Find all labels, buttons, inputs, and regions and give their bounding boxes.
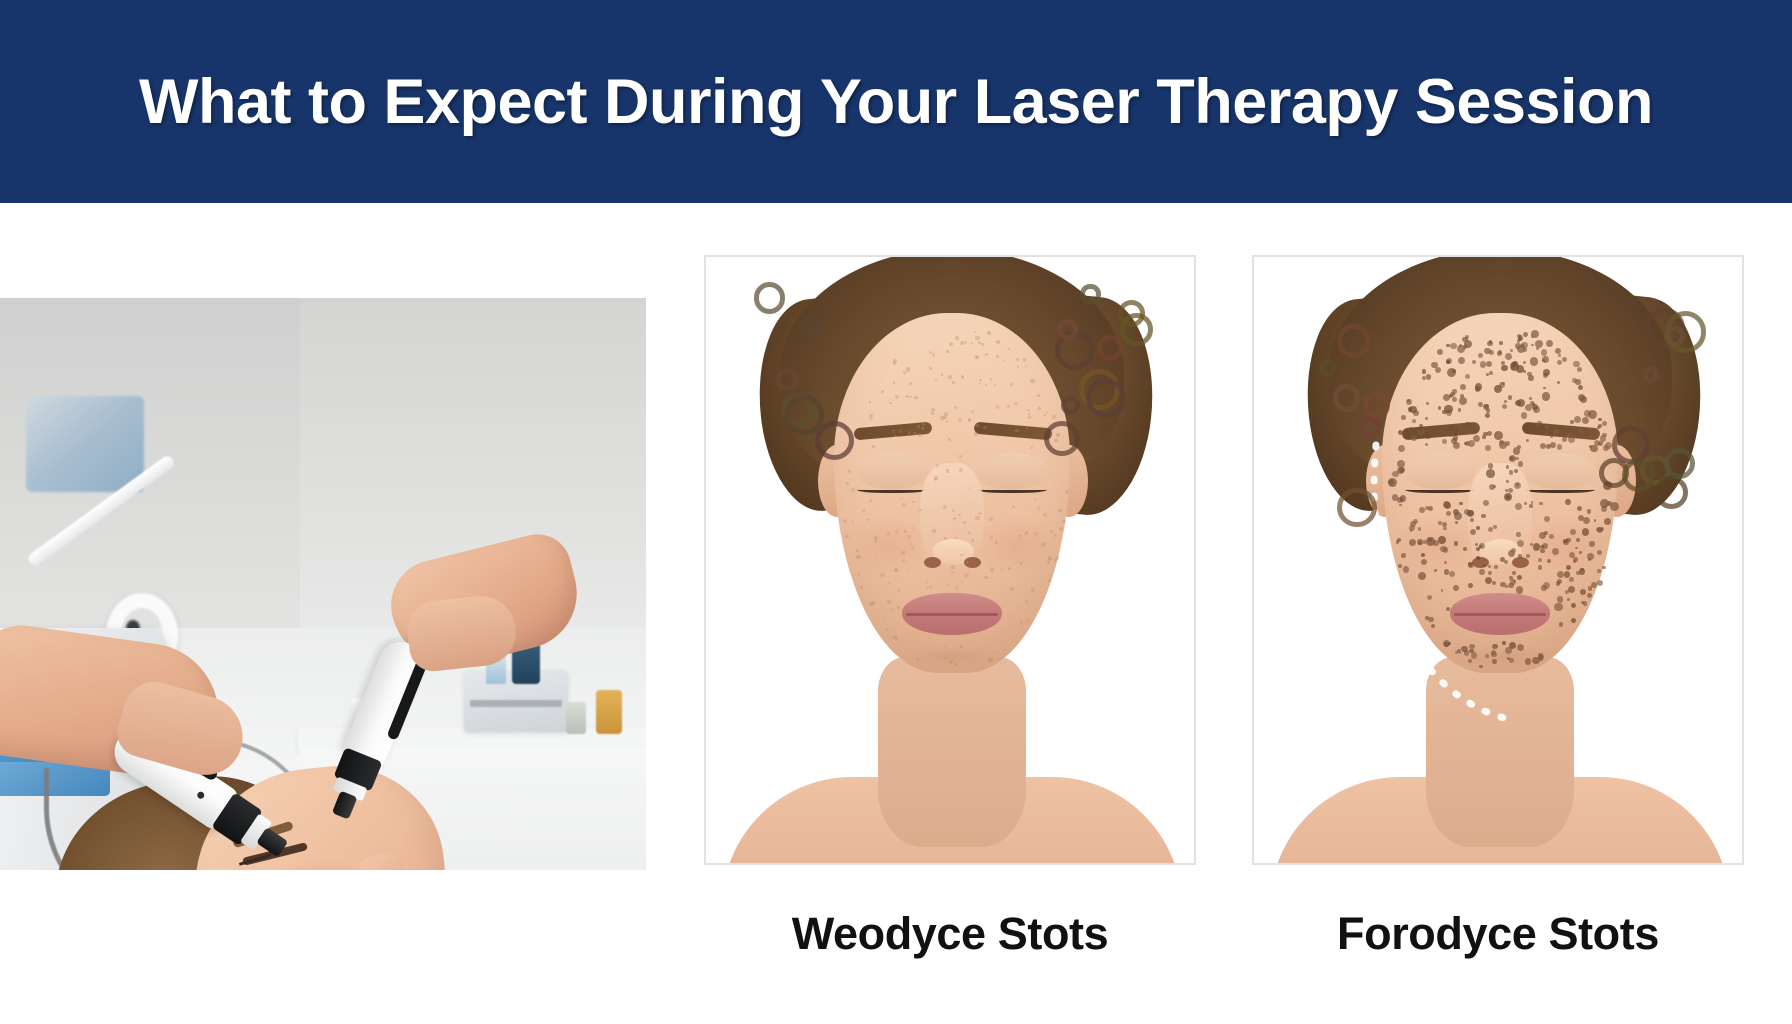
skin-spot (1464, 340, 1472, 348)
skin-spot (1461, 646, 1467, 652)
skin-spot (1566, 565, 1571, 570)
skin-spot (1518, 461, 1523, 466)
skin-spot (856, 555, 860, 559)
hair-curl (754, 282, 786, 314)
skin-spot (1577, 506, 1582, 511)
skin-spot (1043, 513, 1047, 517)
skin-spot (1457, 649, 1461, 653)
skin-spot (1515, 503, 1522, 510)
skin-spot (946, 469, 949, 472)
skin-spot (1468, 583, 1473, 588)
infographic-page: What to Expect During Your Laser Therapy… (0, 0, 1792, 1024)
skin-spot (941, 373, 944, 376)
skin-spot (869, 401, 871, 403)
skin-spot (948, 438, 951, 441)
before-face-image (706, 257, 1194, 863)
skin-spot (1485, 413, 1490, 418)
skin-spot (1564, 571, 1571, 578)
skin-spot (1494, 565, 1498, 569)
hair-curl (1664, 326, 1685, 347)
skin-spot (1562, 437, 1567, 442)
skin-spot (1583, 601, 1588, 606)
skin-spot (1443, 501, 1450, 508)
skin-spot (1567, 598, 1570, 601)
skin-spot (1513, 447, 1520, 454)
skin-spot (895, 395, 899, 399)
skin-spot (1545, 425, 1549, 429)
skin-spot (968, 419, 971, 422)
skin-spot (1010, 383, 1013, 386)
skin-spot (996, 405, 1000, 409)
skin-spot (1574, 416, 1581, 423)
skin-spot (964, 341, 967, 344)
skin-spot (1458, 357, 1465, 364)
skin-spot (894, 435, 896, 437)
skin-spot (1584, 431, 1589, 436)
skin-spot (932, 529, 936, 533)
skin-spot (1023, 358, 1027, 362)
hair-curl (1622, 459, 1655, 492)
skin-spot (1488, 571, 1492, 575)
skin-spot (1597, 569, 1601, 573)
eyelid-left (1404, 453, 1476, 489)
hair-curl (1333, 384, 1361, 412)
skin-spot (1568, 436, 1575, 443)
skin-spot (1443, 527, 1447, 531)
skin-spot (895, 530, 898, 533)
hair-curl (1086, 378, 1126, 418)
skin-spot (1025, 531, 1028, 534)
skin-spot (1535, 340, 1543, 348)
skin-spot (1505, 585, 1509, 589)
skin-spot (1411, 435, 1417, 441)
skin-spot (1476, 556, 1480, 560)
skin-spot (1468, 562, 1474, 568)
skin-spot (1529, 504, 1533, 508)
skin-spot (1434, 569, 1437, 572)
skin-spot (1525, 658, 1532, 665)
skin-spot (1540, 443, 1546, 449)
skin-spot (1442, 410, 1447, 415)
skin-spot (978, 341, 981, 344)
skin-spot (1435, 367, 1441, 373)
skin-spot (1486, 469, 1495, 478)
skin-spot (862, 509, 865, 512)
eyelash-left (857, 485, 927, 493)
skin-spot (1589, 541, 1595, 547)
neck (878, 657, 1026, 847)
skin-spot (1428, 506, 1433, 511)
skin-spot (1453, 442, 1460, 449)
skin-spot (1399, 504, 1402, 507)
skin-spot (1516, 532, 1520, 536)
skin-spot (1488, 565, 1491, 568)
skin-spot (1468, 440, 1475, 447)
skin-spot (880, 573, 884, 577)
skin-spot (995, 541, 998, 544)
skin-spot (911, 547, 914, 550)
skin-spot (1401, 415, 1406, 420)
skin-spot (1557, 571, 1564, 578)
skin-spot (993, 651, 996, 654)
skin-spot (1037, 507, 1040, 510)
skin-spot (897, 589, 900, 592)
skin-spot (1016, 358, 1019, 361)
skin-spot (846, 482, 849, 485)
skin-spot (906, 395, 909, 398)
skin-spot (943, 505, 947, 509)
skin-spot (1588, 410, 1597, 419)
skin-spot (1038, 407, 1041, 410)
skin-spot (1497, 351, 1502, 356)
skin-spot (892, 429, 896, 433)
skin-spot (1485, 577, 1492, 584)
skin-spot (979, 382, 981, 384)
skin-spot (1454, 541, 1458, 545)
skin-spot (934, 476, 938, 480)
skin-spot (1019, 535, 1022, 538)
skin-spot (1058, 509, 1062, 513)
skin-spot (922, 423, 925, 426)
skin-spot (1026, 619, 1029, 622)
skin-spot (1421, 559, 1427, 565)
skin-spot (1444, 561, 1447, 564)
hair-curl (784, 395, 824, 435)
skin-spot (1538, 558, 1542, 562)
nostril-left (1472, 557, 1489, 568)
hair-curl (815, 421, 854, 460)
skin-spot (1388, 478, 1397, 487)
skin-spot (1465, 374, 1470, 379)
hair-curl (1363, 392, 1390, 419)
skin-spot (1597, 580, 1604, 587)
skin-spot (1492, 659, 1497, 664)
skin-spot (1041, 542, 1045, 546)
skin-spot (946, 420, 949, 423)
skin-spot (1528, 375, 1534, 381)
eyelid-right (1524, 453, 1596, 489)
skin-spot (1054, 534, 1057, 537)
hair-curl (1318, 360, 1336, 378)
skin-spot (962, 657, 964, 659)
skin-spot (1573, 557, 1578, 562)
chin-shadow (906, 647, 998, 667)
skin-spot (1546, 444, 1551, 449)
skin-spot (1541, 349, 1548, 356)
skin-spot (1554, 603, 1562, 611)
skin-spot (1582, 528, 1590, 536)
skin-spot (1409, 406, 1417, 414)
content-row (0, 203, 1792, 1024)
skin-spot (1426, 402, 1429, 405)
supply-bottle (596, 690, 622, 734)
skin-spot (1509, 576, 1513, 580)
skin-spot (964, 573, 968, 577)
skin-spot (989, 658, 993, 662)
skin-spot (1475, 383, 1482, 390)
skin-spot (1443, 394, 1450, 401)
skin-spot (971, 539, 974, 542)
skin-spot (1478, 353, 1483, 358)
skin-spot (906, 367, 910, 371)
skin-spot (1516, 586, 1523, 593)
skin-spot (975, 336, 979, 340)
skin-spot (936, 464, 939, 467)
skin-spot (1030, 446, 1033, 449)
skin-spot (851, 488, 855, 492)
skin-spot (1452, 389, 1457, 394)
skin-spot (1504, 493, 1512, 501)
skin-spot (843, 519, 847, 523)
skin-spot (1516, 483, 1519, 486)
skin-spot (1460, 384, 1466, 390)
skin-spot (1479, 569, 1485, 575)
eyelid-right (976, 453, 1048, 489)
skin-spot (1576, 538, 1580, 542)
skin-spot (987, 331, 991, 335)
skin-spot (1578, 385, 1583, 390)
skin-spot (983, 426, 987, 430)
skin-spot (975, 424, 979, 428)
skin-spot (926, 581, 928, 583)
skin-spot (887, 600, 891, 604)
skin-spot (858, 573, 861, 576)
skin-spot (1409, 539, 1416, 546)
before-portrait-panel (704, 255, 1196, 865)
skin-spot (1550, 435, 1553, 438)
eyelid-left (856, 453, 928, 489)
skin-spot (1494, 431, 1503, 440)
skin-spot (1488, 527, 1493, 532)
skin-spot (1010, 587, 1014, 591)
skin-spot (1030, 379, 1034, 383)
nostril-left (924, 557, 941, 568)
skin-spot (1575, 379, 1581, 385)
skin-spot (1476, 547, 1480, 551)
skin-spot (1426, 537, 1434, 545)
skin-spot (900, 498, 902, 500)
skin-spot (1563, 539, 1567, 543)
skin-spot (1587, 593, 1592, 598)
skin-spot (1438, 406, 1442, 410)
skin-spot (916, 658, 919, 661)
lip-line (1454, 613, 1546, 616)
hair-curl (1061, 396, 1080, 415)
skin-spot (1056, 556, 1060, 560)
skin-spot (908, 431, 911, 434)
skin-spot (919, 509, 921, 511)
lip-line (906, 613, 998, 616)
skin-spot (1580, 589, 1586, 595)
skin-spot (1570, 529, 1576, 535)
back-cabinet-drawer (470, 700, 562, 707)
hair-curl (1655, 476, 1688, 509)
skin-spot (860, 586, 863, 589)
skin-spot (888, 582, 890, 584)
skin-spot (1012, 505, 1015, 508)
skin-spot (856, 549, 859, 552)
header-banner: What to Expect During Your Laser Therapy… (0, 0, 1792, 203)
skin-spot (1425, 443, 1428, 446)
skin-spot (1403, 566, 1410, 573)
skin-spot (1034, 532, 1038, 536)
skin-spot (1510, 349, 1513, 352)
hair-curl (776, 368, 798, 390)
skin-spot (1003, 360, 1005, 362)
skin-spot (1492, 581, 1496, 585)
skin-spot (1543, 582, 1550, 589)
skin-spot (1062, 520, 1065, 523)
skin-spot (917, 425, 920, 428)
skin-spot (1538, 565, 1543, 570)
skin-spot (872, 445, 875, 448)
skin-spot (869, 499, 872, 502)
skin-spot (891, 608, 894, 611)
skin-spot (1425, 417, 1428, 420)
eyelash-right (977, 485, 1047, 493)
skin-spot (1565, 499, 1571, 505)
skin-spot (1587, 553, 1594, 560)
hair-curl (1080, 284, 1100, 304)
hair-curl (1097, 335, 1123, 361)
skin-spot (1590, 445, 1597, 452)
skin-spot (1542, 392, 1550, 400)
hair-curl (1057, 319, 1078, 340)
skin-spot (1583, 517, 1590, 524)
skin-spot (870, 418, 872, 420)
nostril-right (1512, 557, 1529, 568)
skin-spot (887, 532, 890, 535)
hair-curl (1118, 300, 1145, 327)
skin-spot (1492, 644, 1498, 650)
skin-spot (1501, 365, 1508, 372)
skin-spot (1539, 502, 1543, 506)
skin-spot (1597, 527, 1603, 533)
hair-curl (1664, 448, 1695, 479)
skin-spot (1506, 480, 1509, 483)
treatment-photo-panel (0, 298, 646, 870)
skin-spot (885, 628, 888, 631)
skin-spot (1031, 587, 1035, 591)
skin-spot (1483, 432, 1488, 437)
skin-spot (904, 530, 907, 533)
skin-spot (1491, 652, 1497, 658)
skin-spot (946, 350, 949, 353)
skin-spot (975, 516, 979, 520)
skin-spot (1537, 421, 1542, 426)
skin-spot (1419, 424, 1423, 428)
skin-spot (876, 554, 878, 556)
skin-spot (1604, 518, 1611, 525)
skin-spot (960, 341, 964, 345)
hair-curl (1337, 488, 1376, 527)
neck (1426, 657, 1574, 847)
skin-spot (1401, 553, 1406, 558)
skin-spot (1602, 566, 1606, 570)
skin-spot (1543, 369, 1550, 376)
skin-spot (1450, 428, 1455, 433)
skin-spot (1037, 394, 1040, 397)
skin-spot (1509, 470, 1513, 474)
skin-spot (945, 657, 948, 660)
skin-spot (953, 517, 956, 520)
skin-spot (1571, 618, 1576, 623)
skin-spot (954, 656, 957, 659)
skin-spot (990, 536, 993, 539)
skin-spot (1579, 551, 1582, 554)
skin-spot (985, 353, 987, 355)
skin-spot (935, 379, 937, 381)
skin-spot (1438, 536, 1446, 544)
skin-spot (907, 535, 911, 539)
skin-spot (918, 433, 922, 437)
skin-spot (1518, 335, 1523, 340)
skin-spot (989, 517, 993, 521)
page-title: What to Expect During Your Laser Therapy… (139, 66, 1653, 138)
skin-spot (1443, 547, 1449, 553)
skin-spot (954, 406, 957, 409)
skin-spot (1441, 589, 1444, 592)
skin-spot (1421, 553, 1425, 557)
skin-spot (1515, 457, 1518, 460)
hair-curl (801, 313, 820, 332)
skin-spot (1007, 405, 1010, 408)
skin-spot (963, 521, 966, 524)
skin-spot (913, 432, 916, 435)
skin-spot (944, 412, 948, 416)
skin-spot (848, 470, 851, 473)
skin-spot (1552, 548, 1559, 555)
caption-before: Weodyce Stots (704, 908, 1196, 960)
skin-spot (1459, 502, 1463, 506)
skin-spot (1485, 654, 1489, 658)
skin-spot (1579, 568, 1585, 574)
skin-spot (893, 359, 897, 363)
skin-spot (1580, 396, 1587, 403)
skin-spot (1544, 531, 1548, 535)
skin-spot (1419, 507, 1425, 513)
skin-spot (1575, 547, 1578, 550)
after-portrait-panel (1252, 255, 1744, 865)
skin-spot (1517, 575, 1522, 580)
skin-spot (1540, 549, 1545, 554)
skin-spot (1413, 519, 1418, 524)
laser-treatment-photo (0, 298, 646, 870)
after-face-image (1254, 257, 1742, 863)
skin-spot (931, 411, 935, 415)
skin-spot (1020, 562, 1023, 565)
skin-spot (1398, 445, 1405, 452)
eyelash-left (1405, 485, 1475, 493)
skin-spot (1532, 657, 1540, 665)
wall-monitor (26, 396, 144, 492)
eyelash-right (1525, 485, 1595, 493)
skin-spot (1026, 427, 1028, 429)
skin-spot (1530, 357, 1538, 365)
skin-spot (961, 580, 963, 582)
skin-spot (1505, 353, 1512, 360)
skin-spot (1573, 361, 1579, 367)
skin-spot (947, 584, 950, 587)
skin-spot (951, 565, 955, 569)
skin-spot (1017, 365, 1020, 368)
skin-spot (901, 551, 905, 555)
skin-spot (1014, 402, 1018, 406)
skin-spot (909, 382, 912, 385)
skin-spot (1605, 442, 1612, 449)
skin-spot (1480, 361, 1486, 367)
skin-spot (1407, 399, 1410, 402)
